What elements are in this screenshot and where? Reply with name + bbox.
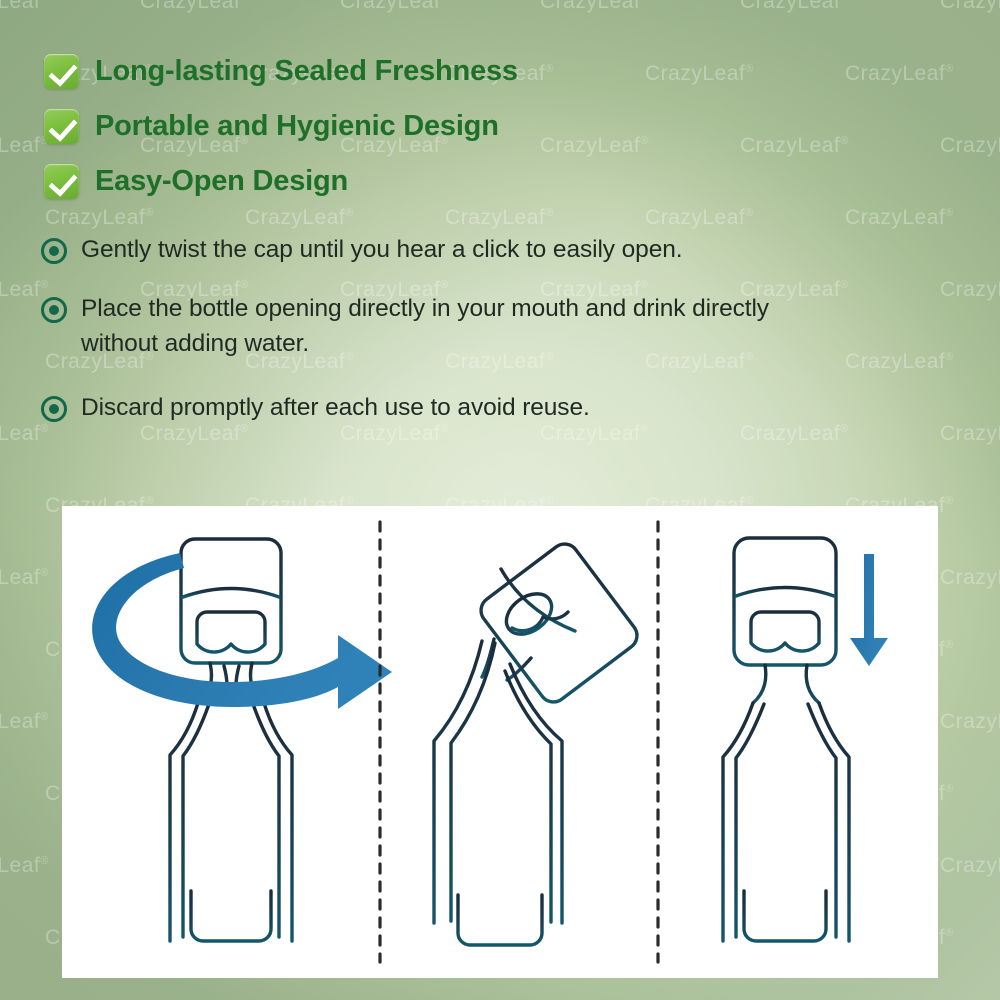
check-box-icon (44, 54, 79, 89)
bottle-with-rotation-arrow-icon (170, 539, 292, 941)
bullet-target-icon (41, 297, 67, 323)
check-box-icon (44, 109, 79, 144)
feature-label: Easy-Open Design (95, 167, 348, 196)
feature-label: Portable and Hygienic Design (95, 112, 499, 141)
feature-label: Long-lasting Sealed Freshness (95, 57, 518, 86)
bottle-with-cap-pressing-down-icon (723, 538, 849, 941)
feature-item: Portable and Hygienic Design (44, 99, 744, 154)
bullet-target-icon (41, 396, 67, 422)
bullet-target-icon (41, 238, 67, 264)
instruction-label: Discard promptly after each use to avoid… (81, 391, 590, 426)
bottle-with-detached-cap-icon (434, 544, 637, 945)
feature-item: Easy-Open Design (44, 154, 744, 209)
list-item: Discard promptly after each use to avoid… (41, 391, 841, 426)
circular-rotation-arrow (92, 553, 392, 709)
instruction-label: Gently twist the cap until you hear a cl… (81, 233, 682, 268)
list-item: Gently twist the cap until you hear a cl… (41, 233, 841, 268)
instruction-illustration-panel (62, 506, 938, 978)
check-box-icon (44, 164, 79, 199)
list-item: Place the bottle opening directly in you… (41, 292, 841, 362)
feature-list: Long-lasting Sealed Freshness Portable a… (44, 44, 744, 209)
feature-item: Long-lasting Sealed Freshness (44, 44, 744, 99)
instruction-list: Gently twist the cap until you hear a cl… (41, 233, 841, 450)
illustration-diagram (62, 506, 938, 978)
downward-arrow-icon (850, 554, 888, 666)
instruction-label: Place the bottle opening directly in you… (81, 292, 821, 362)
